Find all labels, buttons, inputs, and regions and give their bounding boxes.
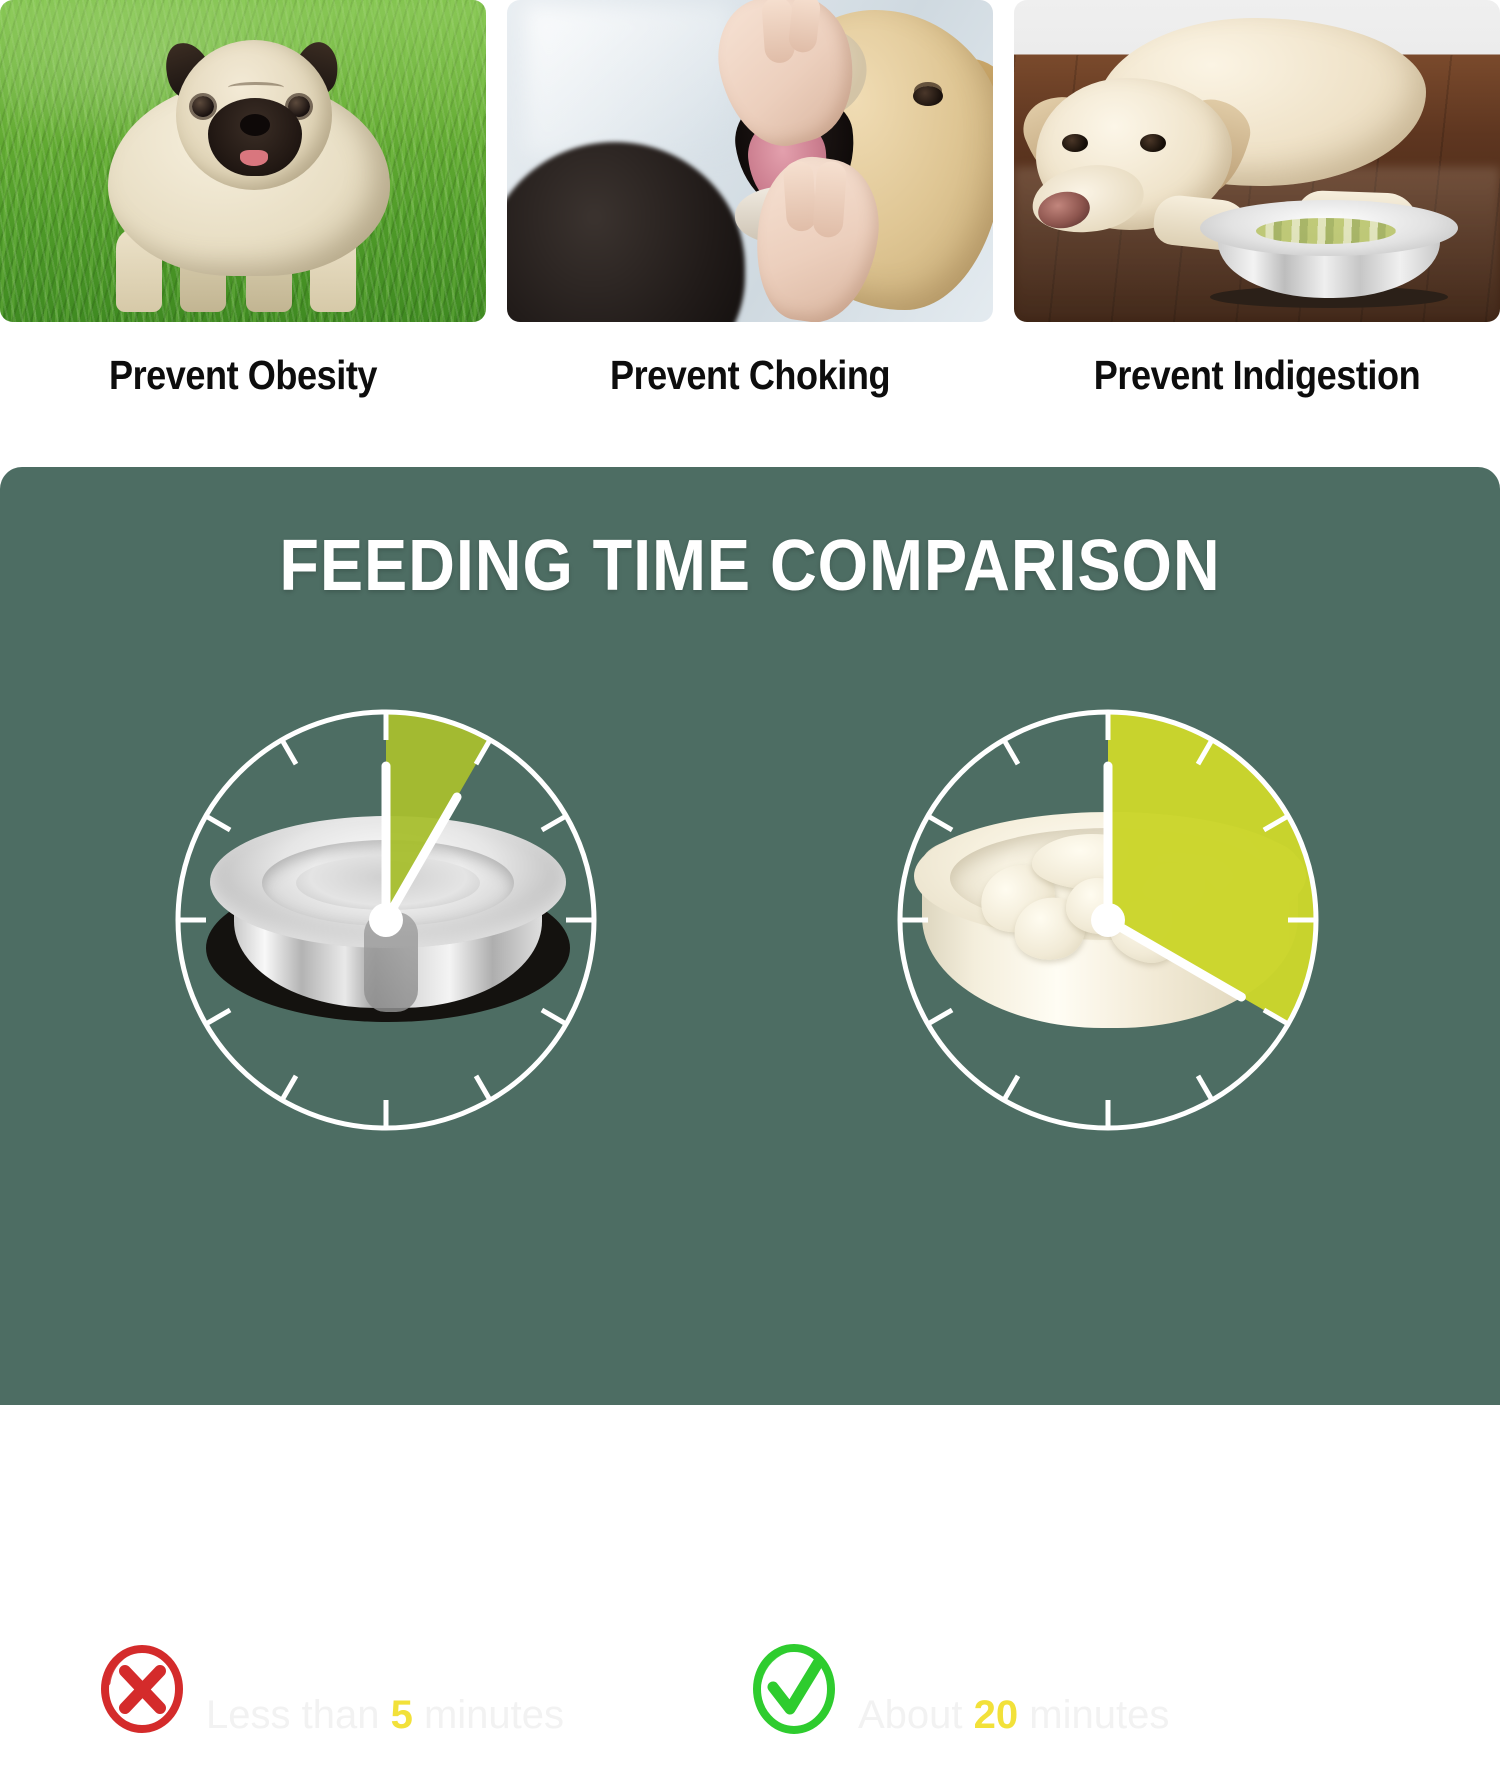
circled-x-icon — [96, 1643, 188, 1735]
bowl-food — [1256, 218, 1396, 244]
pug-tongue — [240, 150, 268, 166]
circled-check-icon — [748, 1643, 840, 1735]
golden-retriever-illustration — [679, 0, 993, 322]
result-sub-prefix: Less than — [206, 1693, 391, 1737]
result-sub-prefix: About — [858, 1693, 974, 1737]
clock-normal-bowl — [166, 700, 606, 1140]
benefit-caption-indigestion: Prevent Indigestion — [1043, 352, 1471, 399]
pug-nose — [240, 114, 270, 136]
pug-eye — [192, 96, 214, 117]
finger — [812, 160, 847, 238]
result-title-normal: Normal Bowl — [206, 1639, 564, 1691]
pug-forehead-wrinkle — [228, 82, 284, 93]
clock-dial-slow — [888, 700, 1328, 1140]
page-title: FEEDING TIME COMPARISON — [75, 525, 1425, 607]
benefit-card-choking: Prevent Choking — [507, 0, 993, 455]
result-sub-suffix: minutes — [1018, 1693, 1169, 1737]
photo-choking-check — [507, 0, 993, 322]
result-text-normal: Normal Bowl Less than 5 minutes — [206, 1639, 564, 1738]
benefit-caption-choking: Prevent Choking — [536, 352, 964, 399]
steel-bowl-photo — [1200, 200, 1458, 308]
labrador-eye — [1062, 134, 1088, 152]
retriever-eye — [913, 86, 943, 106]
benefits-photo-strip: Prevent Obesity — [0, 0, 1500, 455]
photo-lab-with-bowl — [1014, 0, 1500, 322]
finger — [783, 160, 818, 232]
result-sub-suffix: minutes — [413, 1693, 564, 1737]
result-title-slow: Slow Feeding Bowl — [858, 1639, 1305, 1691]
clock-slow-feeding-bowl — [888, 700, 1328, 1140]
benefit-card-indigestion: Prevent Indigestion — [1014, 0, 1500, 455]
clock-center-dot — [1091, 903, 1125, 937]
result-sub-value: 5 — [391, 1693, 413, 1737]
result-slow-feeding-bowl: Slow Feeding Bowl About 20 minutes — [748, 1639, 1448, 1769]
clock-center-dot — [369, 903, 403, 937]
labrador-eye — [1140, 134, 1166, 152]
result-text-slow: Slow Feeding Bowl About 20 minutes — [858, 1639, 1305, 1738]
clock-dial-normal — [166, 700, 606, 1140]
result-normal-bowl: Normal Bowl Less than 5 minutes — [96, 1639, 696, 1769]
feeding-time-comparison-panel: FEEDING TIME COMPARISON — [0, 467, 1500, 1405]
result-subtitle-normal: Less than 5 minutes — [206, 1693, 564, 1738]
result-subtitle-slow: About 20 minutes — [858, 1693, 1305, 1738]
finger — [788, 0, 822, 54]
benefit-card-obesity: Prevent Obesity — [0, 0, 486, 455]
photo-overweight-pug — [0, 0, 486, 322]
result-sub-value: 20 — [974, 1693, 1019, 1737]
benefit-caption-obesity: Prevent Obesity — [29, 352, 457, 399]
pug-illustration — [88, 34, 408, 322]
